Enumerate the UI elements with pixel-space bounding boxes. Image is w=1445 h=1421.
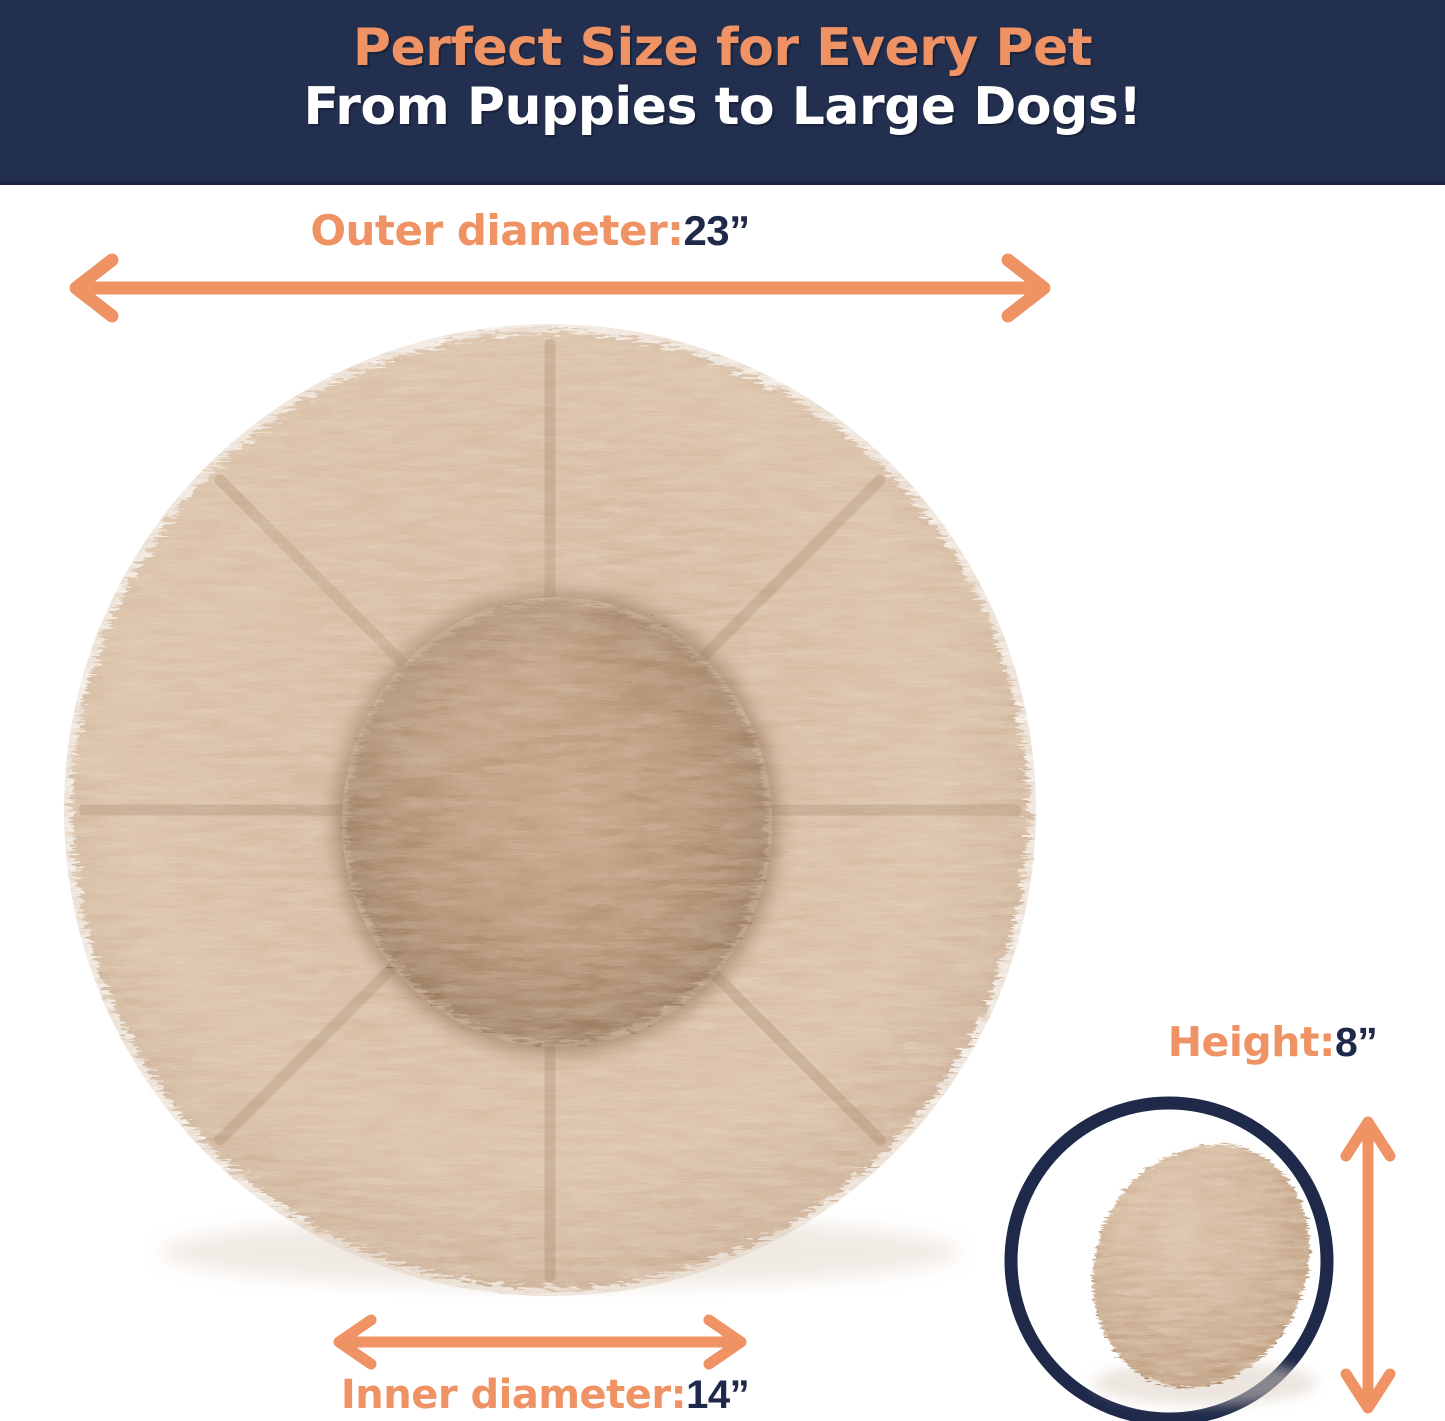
infographic-page: Perfect Size for Every Pet From Puppies …	[0, 0, 1445, 1421]
outer-diameter-label: Outer diameter:23”	[0, 206, 1060, 255]
side-view-inset	[995, 1085, 1345, 1421]
height-value: 8”	[1335, 1019, 1377, 1065]
headline-primary: Perfect Size for Every Pet	[0, 0, 1445, 75]
outer-diameter-value: 23”	[683, 207, 749, 254]
headline-secondary: From Puppies to Large Dogs!	[0, 75, 1445, 134]
inner-diameter-value: 14”	[686, 1373, 749, 1417]
inner-diameter-label-text: Inner diameter:	[341, 1372, 686, 1418]
height-label: Height:8”	[1100, 1018, 1445, 1066]
header-banner: Perfect Size for Every Pet From Puppies …	[0, 0, 1445, 185]
height-label-text: Height:	[1168, 1018, 1335, 1066]
inner-diameter-label: Inner diameter:14”	[275, 1372, 815, 1418]
outer-diameter-label-text: Outer diameter:	[310, 206, 683, 255]
height-arrow-icon	[1336, 1110, 1400, 1420]
product-image-top-view	[60, 322, 1040, 1297]
inner-diameter-arrow-icon	[325, 1318, 755, 1376]
bolster-highlight	[180, 472, 600, 772]
outer-diameter-arrow-icon	[60, 252, 1060, 324]
